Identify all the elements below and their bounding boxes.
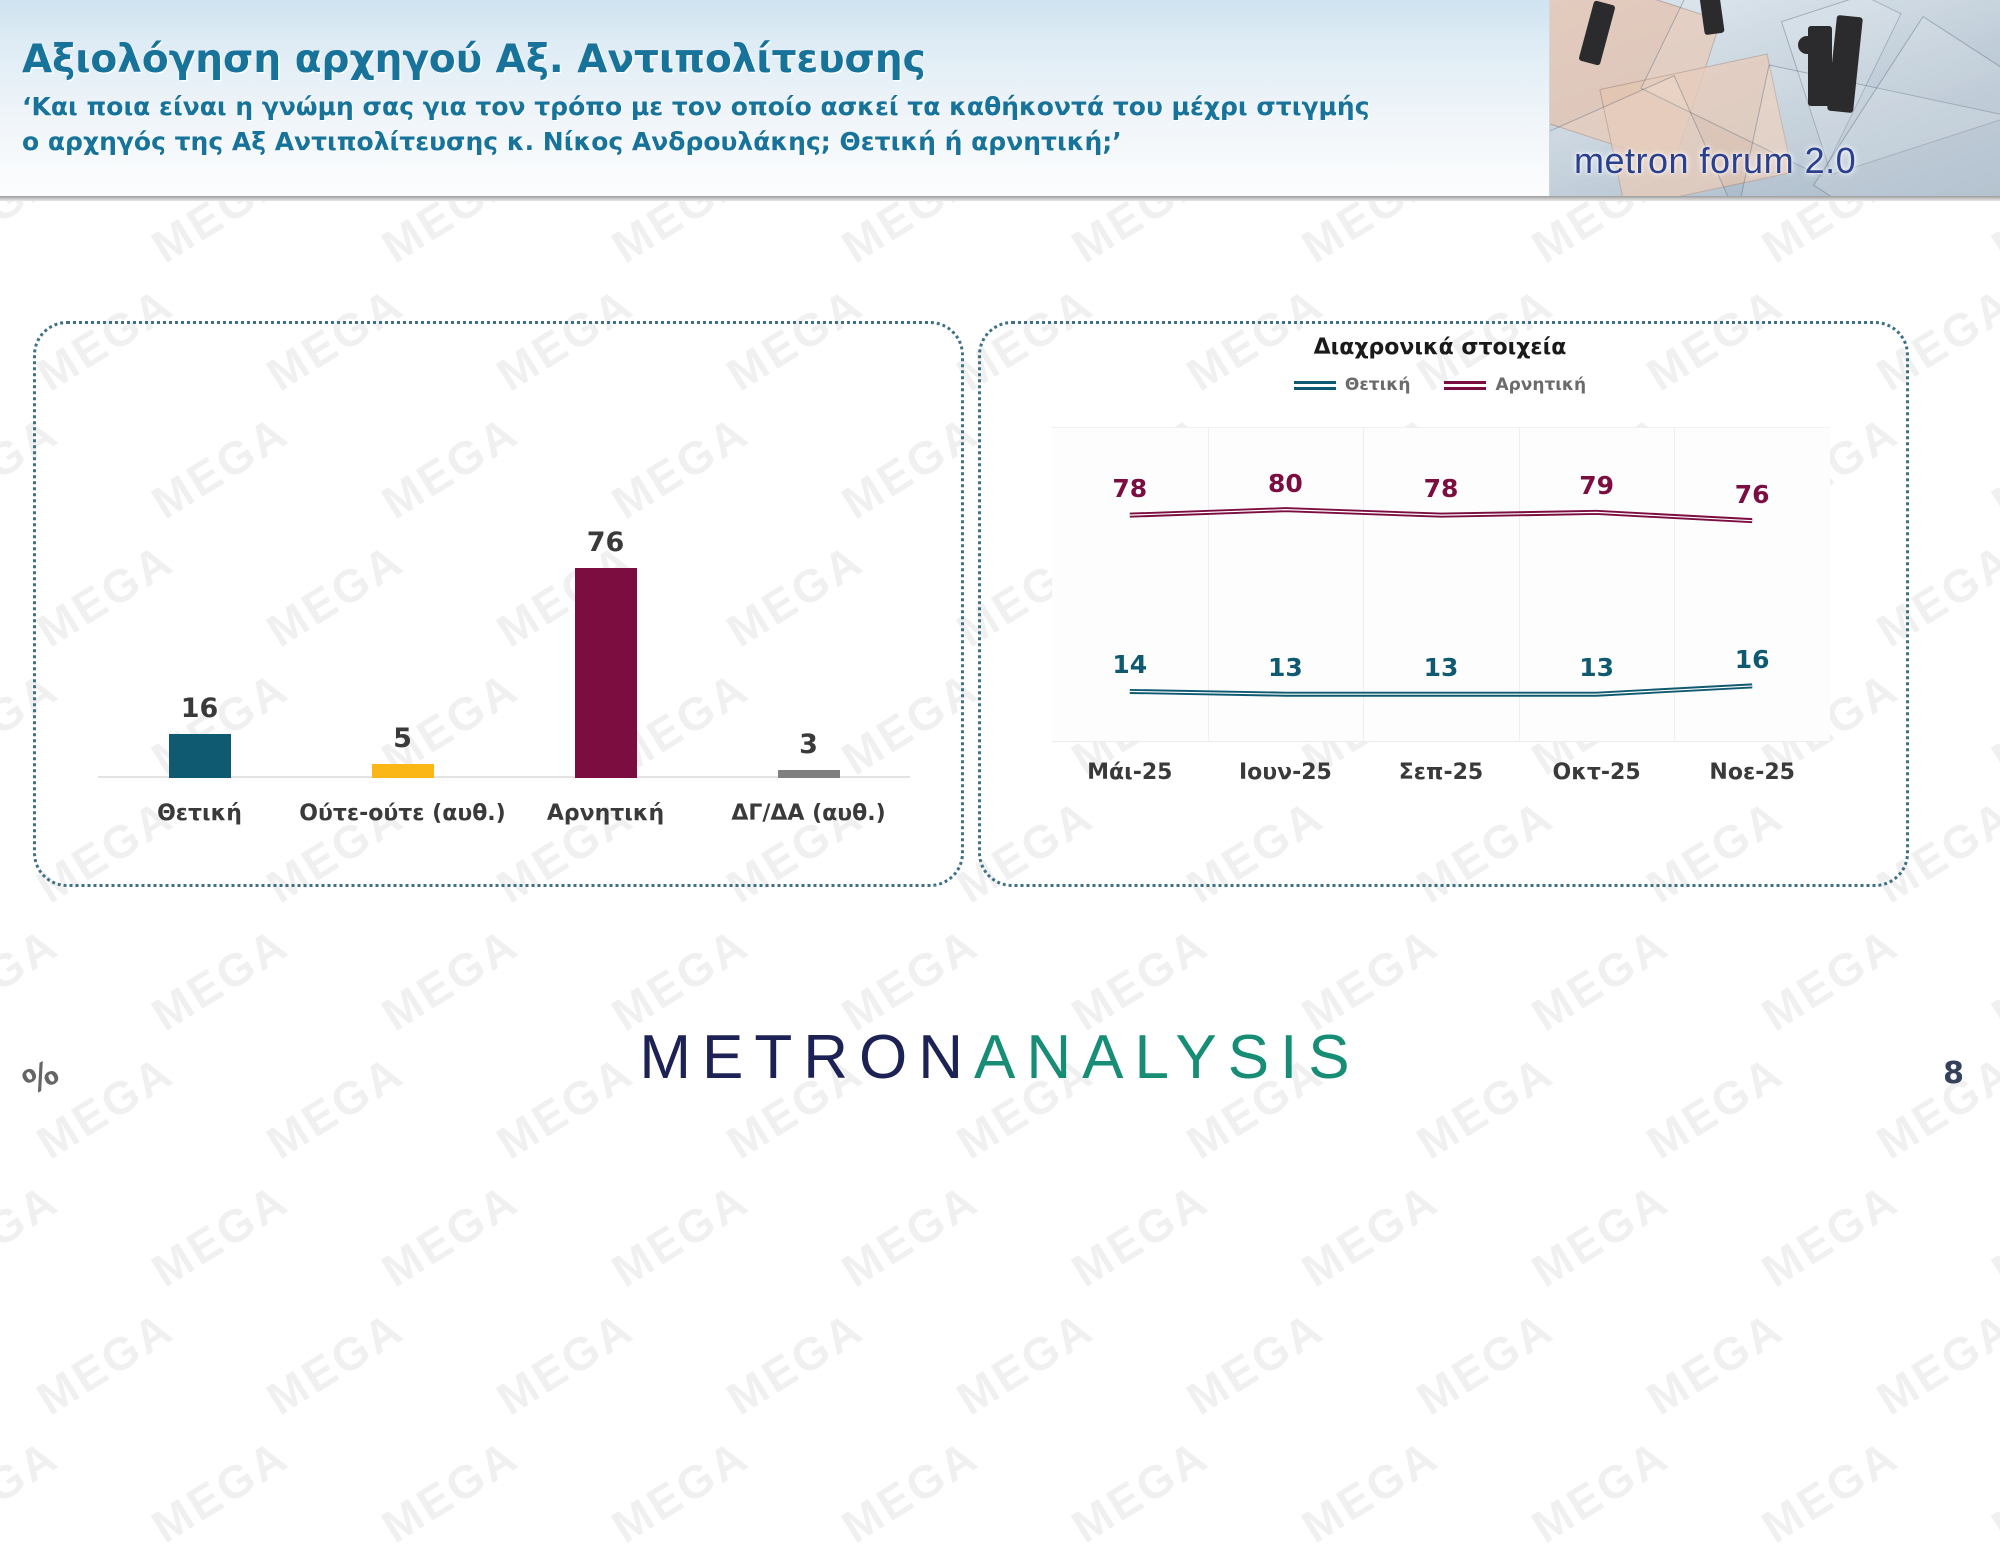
watermark-text: MEGA [1752,1172,1908,1297]
bar-category-label: Αρνητική [547,801,664,826]
watermark-text: MEGA [1867,1044,2000,1169]
watermark-text: MEGA [1982,1172,2000,1297]
bar-wrapper: 16 [100,502,300,778]
watermark-text: MEGA [602,1172,758,1297]
x-axis-tick-label: Νοε-25 [1709,760,1795,785]
logo-metron-text: METRON [639,1023,974,1092]
watermark-text: MEGA [832,1428,988,1553]
bar-value-label: 16 [181,693,219,724]
watermark-text: MEGA [1062,1172,1218,1297]
legend-item-negative[interactable]: Αρνητική [1444,375,1586,395]
watermark-text: MEGA [257,1044,413,1169]
logo-analysis-text: ANALYSIS [974,1023,1361,1092]
x-axis-tick-label: Οκτ-25 [1553,760,1641,785]
header-photo: metron forum 2.0 [1549,0,2000,200]
line-point-label: 76 [1735,480,1770,509]
watermark-text: MEGA [487,1044,643,1169]
legend-label: Αρνητική [1495,375,1586,395]
watermark-text: MEGA [1752,1428,1908,1553]
watermark-text: MEGA [142,1428,298,1553]
line-chart-title: Διαχρονικά στοιχεία [1005,335,1875,360]
legend-item-positive[interactable]: Θετική [1294,375,1411,395]
line-point-label: 13 [1424,653,1459,682]
watermark-text: MEGA [372,1428,528,1553]
watermark-text: MEGA [1752,916,1908,1041]
legend-swatch [1444,381,1486,390]
watermark-text: MEGA [1177,1300,1333,1425]
line-point-label: 79 [1579,471,1614,500]
watermark-text: MEGA [1637,1300,1793,1425]
bar-rect[interactable] [169,734,231,778]
bar-value-label: 3 [799,729,818,760]
percent-symbol: % [17,1052,66,1103]
line-point-label: 16 [1735,645,1770,674]
line-chart: Διαχρονικά στοιχεία ΘετικήΑρνητική 14131… [1005,335,1875,865]
bar-category-label: Θετική [157,801,242,826]
title-block: Αξιολόγηση αρχηγού Αξ. Αντιπολίτευσης ‘Κ… [22,40,1502,160]
watermark-text: MEGA [1982,404,2000,529]
watermark-text: MEGA [1407,1300,1563,1425]
x-axis-tick-label: Σεπ-25 [1399,760,1483,785]
line-point-label: 14 [1112,650,1147,679]
watermark-text: MEGA [1062,1428,1218,1553]
watermark-text: MEGA [717,1300,873,1425]
bar-value-label: 5 [393,723,412,754]
watermark-text: MEGA [1292,1172,1448,1297]
watermark-text: MEGA [142,1172,298,1297]
bar-rect[interactable] [372,764,434,778]
watermark-text: MEGA [0,1428,68,1553]
watermark-text: MEGA [832,1172,988,1297]
bar-chart: 16Θετική5Ούτε-ούτε (αυθ.)76Αρνητική3ΔΓ/Δ… [60,440,940,840]
watermark-text: MEGA [1522,1428,1678,1553]
bar-group: 16Θετική [100,440,300,840]
bar-group: 3ΔΓ/ΔΑ (αυθ.) [709,440,909,840]
watermark-text: MEGA [1407,1044,1563,1169]
page-subtitle: ‘Και ποια είναι η γνώμη σας για τον τρόπ… [22,89,1382,160]
watermark-text: MEGA [372,1172,528,1297]
watermark-text: MEGA [487,1300,643,1425]
line-point-label: 13 [1579,653,1614,682]
metron-analysis-logo: METRONANALYSIS [639,1022,1360,1093]
bar-wrapper: 5 [303,502,503,778]
line-inner-highlight [1130,510,1752,521]
watermark-text: MEGA [1867,1300,2000,1425]
watermark-text: MEGA [1982,1428,2000,1553]
bar-category-label: Ούτε-ούτε (αυθ.) [299,801,505,826]
bar-rect[interactable] [575,568,637,778]
page-title: Αξιολόγηση αρχηγού Αξ. Αντιπολίτευσης [22,40,1502,81]
x-axis-tick-label: Μάι-25 [1087,760,1172,785]
slide-header: Αξιολόγηση αρχηγού Αξ. Αντιπολίτευσης ‘Κ… [0,0,2000,201]
watermark-text: MEGA [0,916,68,1041]
watermark-text: MEGA [0,1172,68,1297]
bar-wrapper: 3 [709,502,909,778]
watermark-text: MEGA [142,916,298,1041]
bar-wrapper: 76 [506,502,706,778]
watermark-text: MEGA [372,916,528,1041]
watermark-text: MEGA [1982,916,2000,1041]
line-point-label: 78 [1112,474,1147,503]
bar-group: 5Ούτε-ούτε (αυθ.) [303,440,503,840]
line-chart-legend: ΘετικήΑρνητική [1005,375,1875,395]
legend-swatch [1294,381,1336,390]
bar-group: 76Αρνητική [506,440,706,840]
watermark-text: MEGA [1522,916,1678,1041]
line-point-label: 80 [1268,469,1303,498]
watermark-text: MEGA [27,1300,183,1425]
watermark-text: MEGA [1522,1172,1678,1297]
watermark-text: MEGA [602,1428,758,1553]
watermark-text: MEGA [1982,660,2000,785]
bar-category-label: ΔΓ/ΔΑ (αυθ.) [731,801,885,826]
line-point-label: 13 [1268,653,1303,682]
watermark-text: MEGA [1637,1044,1793,1169]
page-number: 8 [1943,1056,1964,1091]
bar-value-label: 76 [587,527,625,558]
legend-label: Θετική [1345,375,1411,395]
photo-person-head [1798,36,1816,54]
header-divider [0,196,2000,201]
watermark-text: MEGA [947,1300,1103,1425]
watermark-text: MEGA [257,1300,413,1425]
line-point-label: 78 [1424,474,1459,503]
bar-rect[interactable] [778,770,840,778]
watermark-text: MEGA [1292,1428,1448,1553]
x-axis-tick-label: Ιουν-25 [1239,760,1332,785]
photo-caption: metron forum 2.0 [1574,140,1856,182]
